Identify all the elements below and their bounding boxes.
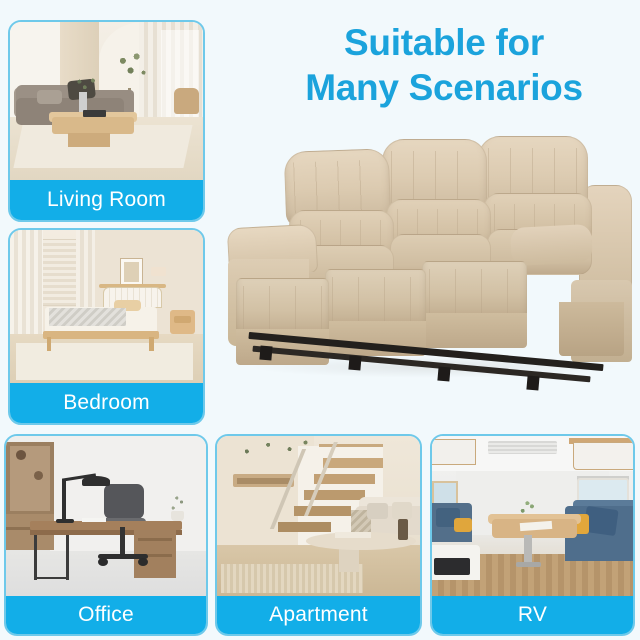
scenario-label-living-room: Living Room: [10, 180, 203, 220]
scenario-card-bedroom[interactable]: Bedroom: [8, 228, 205, 425]
bedroom-photo: [10, 230, 203, 383]
bedroom-scene: [10, 230, 203, 383]
overhead-cabinet-left: [432, 439, 476, 465]
title-line-1: Suitable for: [344, 22, 544, 63]
title-line-2: Many Scenarios: [258, 65, 630, 110]
scenario-card-rv[interactable]: RV: [430, 434, 635, 636]
scenario-card-apartment[interactable]: Apartment: [215, 434, 422, 636]
scenario-card-office[interactable]: Office: [4, 434, 208, 636]
rv-scene: [432, 436, 633, 596]
scenario-label-office: Office: [6, 596, 206, 634]
apartment-photo: [217, 436, 420, 596]
page-title: Suitable for Many Scenarios: [258, 20, 630, 110]
office-chair: [104, 484, 144, 519]
scenario-label-apartment: Apartment: [217, 596, 420, 634]
ceiling-vent: [488, 441, 556, 454]
rv-photo: [432, 436, 633, 596]
cooktop: [434, 558, 470, 576]
window-blind: [39, 239, 80, 306]
overhead-cabinet-right: [573, 442, 633, 469]
apartment-scene: [217, 436, 420, 596]
office-photo: [6, 436, 206, 596]
office-scene: [6, 436, 206, 596]
hanging-branch: [229, 436, 318, 458]
infographic-canvas: Suitable for Many Scenarios: [0, 0, 640, 640]
scenario-card-living-room[interactable]: Living Room: [8, 20, 205, 222]
scenario-label-rv: RV: [432, 596, 633, 634]
living-room-scene: [10, 22, 203, 180]
table-plant: [74, 74, 101, 96]
product-image-reclining-sofa: [228, 128, 632, 400]
staircase: [323, 458, 384, 468]
scenario-label-bedroom: Bedroom: [10, 383, 203, 423]
accent-chair: [174, 88, 199, 113]
desk-lamp: [82, 476, 110, 486]
living-room-photo: [10, 22, 203, 180]
desk: [30, 521, 182, 531]
